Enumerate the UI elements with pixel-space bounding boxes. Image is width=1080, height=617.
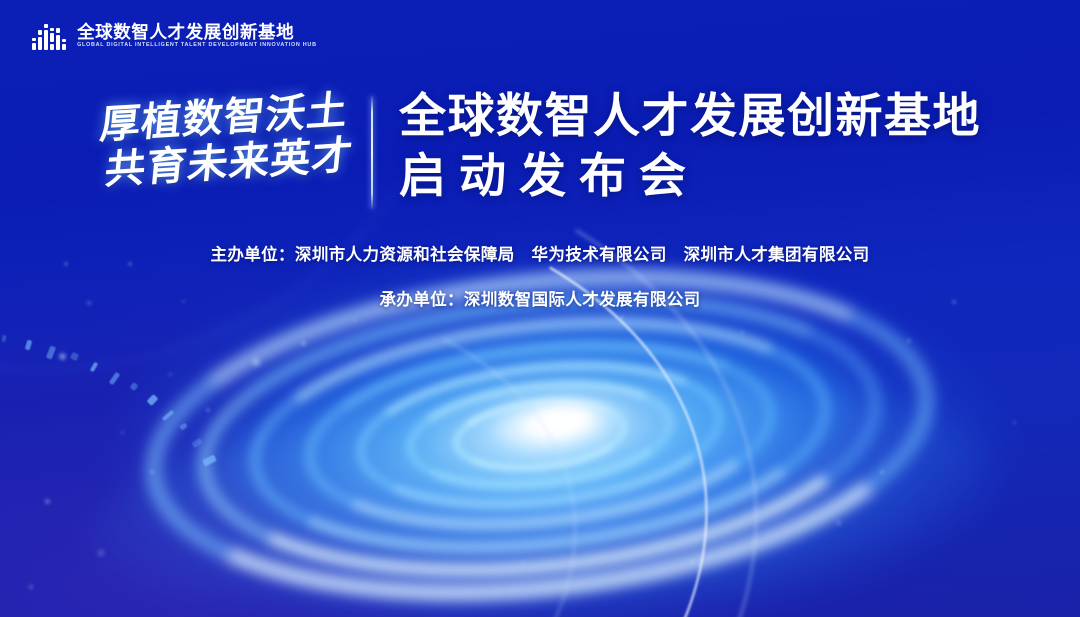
bokeh-dot [150, 470, 154, 474]
logo-bar-segment [32, 38, 36, 41]
logo-bar-segment [56, 35, 60, 50]
logo-bar-column [50, 28, 54, 50]
bokeh-dot [58, 352, 67, 361]
headline-block: 厚植数智沃土 共育未来英才 全球数智人才发展创新基地 启动发布会 [0, 92, 1080, 209]
tick-mark [202, 455, 217, 467]
bokeh-dot [250, 356, 262, 368]
host-line: 主办单位：深圳市人力资源和社会保障局 华为技术有限公司 深圳市人才集团有限公司 [0, 247, 1080, 264]
bokeh-dot [740, 330, 745, 335]
logo-bar-segment [50, 44, 54, 50]
tick-mark [179, 422, 188, 430]
title-line-1: 全球数智人才发展创新基地 [399, 92, 981, 141]
vortex-core-hot [529, 405, 593, 437]
logo-bar-segment [44, 30, 48, 50]
calligraphy-slogan: 厚植数智沃土 共育未来英才 [99, 92, 349, 184]
tick-mark [192, 438, 204, 448]
bokeh-dot [1012, 420, 1017, 425]
tick-mark [90, 361, 99, 372]
vortex-ring [400, 368, 680, 502]
title-line-2: 启动发布会 [399, 150, 981, 203]
logo-text: 全球数智人才发展创新基地 GLOBAL DIGITAL INTELLIGENT … [77, 24, 317, 49]
tick-mark [147, 394, 159, 406]
bokeh-dot [120, 430, 125, 435]
logo-bar-segment [38, 37, 42, 50]
logo-title-cn: 全球数智人才发展创新基地 [77, 24, 317, 42]
bokeh-dot [520, 560, 525, 565]
tick-mark [69, 352, 78, 361]
event-title: 全球数智人才发展创新基地 启动发布会 [399, 92, 981, 203]
bokeh-dot [880, 470, 884, 474]
bokeh-dot [206, 408, 210, 412]
bokeh-dot [96, 548, 106, 558]
logo-bar-segment [56, 28, 60, 33]
vortex-ring [348, 344, 731, 526]
bokeh-dot [430, 470, 434, 474]
tick-mark [46, 345, 56, 359]
light-sweep-arc [0, 0, 542, 467]
logo-bar-column [38, 30, 42, 50]
tick-mark [24, 339, 32, 350]
tick-mark [130, 382, 139, 391]
bokeh-dot [836, 520, 842, 526]
bokeh-dot [352, 318, 357, 323]
brand-logo[interactable]: 全球数智人才发展创新基地 GLOBAL DIGITAL INTELLIGENT … [32, 22, 317, 50]
logo-bar-segment [32, 43, 36, 50]
tick-mark [162, 409, 174, 421]
bokeh-dot [168, 372, 173, 377]
bokeh-dot [44, 498, 51, 505]
vortex-ring [183, 262, 896, 608]
logo-bar-segment [50, 28, 54, 31]
bokeh-dot [906, 338, 912, 344]
organizer-block: 主办单位：深圳市人力资源和社会保障局 华为技术有限公司 深圳市人才集团有限公司 … [0, 247, 1080, 308]
bokeh-dot [28, 584, 34, 590]
logo-bar-column [32, 38, 36, 50]
logo-bar-column [62, 39, 66, 50]
logo-bar-segment [50, 33, 54, 42]
logo-bar-column [56, 28, 60, 50]
vertical-divider [371, 96, 373, 209]
tick-mark [2, 335, 7, 343]
logo-bar-segment [44, 24, 48, 28]
logo-subtitle-en: GLOBAL DIGITAL INTELLIGENT TALENT DEVELO… [77, 43, 317, 48]
vortex-ring [237, 290, 844, 580]
logo-bar-segment [62, 39, 66, 42]
bokeh-dot [300, 340, 307, 347]
equalizer-bars-icon [32, 22, 66, 50]
vortex-core-glow [476, 386, 632, 463]
vortex-ring [295, 319, 786, 552]
bokeh-dot [620, 316, 624, 320]
tick-mark [109, 371, 121, 385]
vortex-base-glow [82, 346, 999, 617]
vortex-ring [449, 390, 632, 480]
bokeh-dot [690, 560, 694, 564]
logo-bar-segment [38, 30, 42, 35]
vortex-haze [209, 284, 870, 586]
logo-bar-column [44, 24, 48, 50]
organizer-line: 承办单位：深圳数智国际人才发展有限公司 [0, 292, 1080, 309]
logo-bar-segment [62, 44, 66, 50]
event-banner: 全球数智人才发展创新基地 GLOBAL DIGITAL INTELLIGENT … [0, 0, 1080, 617]
